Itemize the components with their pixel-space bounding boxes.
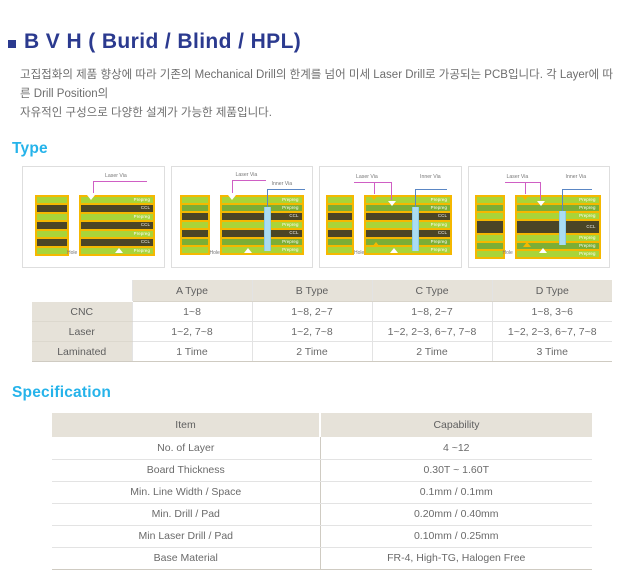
type-table-corner	[32, 280, 132, 302]
callout-hole: Hole	[503, 251, 513, 256]
layer-label-prepreg: Prepreg	[134, 249, 150, 253]
layer-label-prepreg: Prepreg	[282, 223, 298, 227]
type-cell: 1~8, 3~6	[492, 302, 612, 322]
layer-label-prepreg: Prepreg	[579, 214, 595, 218]
section-heading-type: Type	[12, 140, 630, 158]
section-heading-specification: Specification	[12, 384, 630, 402]
table-row: No. of Layer 4 ~12	[52, 437, 592, 459]
spec-item: Min. Drill / Pad	[52, 503, 320, 525]
laser-via-leader-line	[354, 182, 392, 183]
spec-capability: 0.20mm / 0.40mm	[320, 503, 592, 525]
callout-hole: Hole	[354, 251, 364, 256]
layer-label-prepreg: Prepreg	[282, 206, 298, 210]
diagram-panel-strip: Prepreg CCL Prepreg CCL Prepreg CCL Prep…	[22, 166, 610, 268]
layer-label-prepreg: Prepreg	[282, 240, 298, 244]
type-row-label-laminated: Laminated	[32, 342, 132, 362]
laser-via-notch-icon	[372, 242, 380, 247]
type-cell: 1~2, 2~3, 6~7, 7~8	[492, 322, 612, 342]
layer-label-ccl: CCL	[438, 214, 447, 218]
diagram-panel-c-type: Prepreg Prepreg CCL Prepreg CCL Prepreg …	[319, 166, 462, 268]
inner-via-leader-line	[415, 189, 447, 190]
laser-via-leader-line	[374, 182, 375, 194]
type-cell: 1~2, 7~8	[252, 322, 372, 342]
table-row: Board Thickness 0.30T ~ 1.60T	[52, 459, 592, 481]
laser-via-notch-icon	[87, 195, 95, 200]
type-cell: 1~8	[132, 302, 252, 322]
bullet-square-icon	[8, 40, 16, 48]
layer-label-prepreg: Prepreg	[431, 206, 447, 210]
layer-label-prepreg: Prepreg	[134, 232, 150, 236]
spec-capability: 0.1mm / 0.1mm	[320, 481, 592, 503]
stack-left-d	[475, 195, 505, 259]
layer-label-prepreg: Prepreg	[579, 206, 595, 210]
callout-inner-via: Inner Via	[272, 182, 293, 187]
type-cell: 1~8, 2~7	[252, 302, 372, 322]
laser-via-notch-icon	[521, 195, 529, 200]
type-col-c: C Type	[372, 280, 492, 302]
spec-col-item: Item	[52, 413, 320, 437]
table-header-row: Item Capability	[52, 413, 592, 437]
layer-label-prepreg: Prepreg	[134, 215, 150, 219]
diagram-panel-b-type: Prepreg Prepreg CCL Prepreg CCL Prepreg …	[171, 166, 314, 268]
spec-item: Board Thickness	[52, 459, 320, 481]
layer-label-ccl: CCL	[289, 231, 298, 235]
stack-right-b: Prepreg Prepreg CCL Prepreg CCL Prepreg …	[220, 195, 304, 255]
spec-item: Min Laser Drill / Pad	[52, 525, 320, 547]
laser-via-notch-icon	[115, 248, 123, 253]
table-row: Base Material FR-4, High-TG, Halogen Fre…	[52, 547, 592, 569]
type-col-b: B Type	[252, 280, 372, 302]
type-cell: 1~8, 2~7	[372, 302, 492, 322]
inner-via-leader-line	[267, 189, 305, 190]
layer-label-prepreg: Prepreg	[579, 198, 595, 202]
laser-via-notch-icon	[244, 248, 252, 253]
laser-via-leader-line	[525, 182, 526, 194]
diagram-panel-d-type: Prepreg Prepreg Prepreg CCL Prepreg Prep…	[468, 166, 611, 268]
spec-col-capability: Capability	[320, 413, 592, 437]
layer-label-ccl: CCL	[586, 225, 595, 229]
type-cell: 2 Time	[372, 342, 492, 362]
inner-via-column	[264, 207, 271, 251]
callout-inner-via: Inner Via	[420, 175, 441, 180]
spec-item: No. of Layer	[52, 437, 320, 459]
laser-via-leader-line	[232, 180, 266, 181]
type-col-a: A Type	[132, 280, 252, 302]
spec-capability: 0.30T ~ 1.60T	[320, 459, 592, 481]
stack-right-d: Prepreg Prepreg Prepreg CCL Prepreg Prep…	[515, 195, 601, 259]
layer-label-prepreg: Prepreg	[579, 244, 595, 248]
stack-right-a: Prepreg CCL Prepreg CCL Prepreg CCL Prep…	[79, 195, 155, 256]
laser-via-leader-line	[505, 182, 541, 183]
type-cell: 1~2, 2~3, 6~7, 7~8	[372, 322, 492, 342]
type-comparison-table: A Type B Type C Type D Type CNC 1~8 1~8,…	[32, 280, 612, 363]
table-row: CNC 1~8 1~8, 2~7 1~8, 2~7 1~8, 3~6	[32, 302, 612, 322]
spec-capability: FR-4, High-TG, Halogen Free	[320, 547, 592, 569]
layer-label-ccl: CCL	[289, 214, 298, 218]
callout-hole: Hole	[210, 251, 220, 256]
type-cell: 1~2, 7~8	[132, 322, 252, 342]
table-header-row: A Type B Type C Type D Type	[32, 280, 612, 302]
layer-label-prepreg: Prepreg	[431, 223, 447, 227]
table-row: Min. Line Width / Space 0.1mm / 0.1mm	[52, 481, 592, 503]
callout-laser-via: Laser Via	[236, 173, 258, 178]
callout-hole: Hole	[67, 251, 77, 256]
layer-label-ccl: CCL	[141, 206, 150, 210]
laser-via-leader-line	[93, 181, 94, 193]
layer-label-ccl: CCL	[141, 223, 150, 227]
description-line-2: 자유적인 구성으로 다양한 설계가 가능한 제품입니다.	[20, 104, 620, 123]
layer-label-ccl: CCL	[438, 231, 447, 235]
specification-table: Item Capability No. of Layer 4 ~12 Board…	[52, 413, 592, 570]
layer-label-prepreg: Prepreg	[282, 198, 298, 202]
inner-via-column	[559, 211, 566, 245]
laser-via-notch-icon	[539, 248, 547, 253]
description-line-1: 고집접화의 제품 향상에 따라 기존의 Mechanical Drill의 한계…	[20, 66, 620, 104]
spec-item: Min. Line Width / Space	[52, 481, 320, 503]
layer-label-prepreg: Prepreg	[431, 240, 447, 244]
stack-left-b	[180, 195, 210, 255]
layer-label-prepreg: Prepreg	[579, 236, 595, 240]
stack-left-c	[326, 195, 354, 255]
table-row: Laser 1~2, 7~8 1~2, 7~8 1~2, 2~3, 6~7, 7…	[32, 322, 612, 342]
type-cell: 2 Time	[252, 342, 372, 362]
inner-via-column	[412, 207, 419, 251]
diagram-panel-a-type: Prepreg CCL Prepreg CCL Prepreg CCL Prep…	[22, 166, 165, 268]
type-row-label-laser: Laser	[32, 322, 132, 342]
page-header: B V H ( Burid / Blind / HPL)	[0, 0, 630, 54]
laser-via-leader-line	[93, 181, 147, 182]
laser-via-leader-line	[232, 180, 233, 193]
layer-label-prepreg: Prepreg	[282, 248, 298, 252]
layer-label-ccl: CCL	[141, 240, 150, 244]
laser-via-notch-icon	[537, 201, 545, 206]
inner-via-leader-line	[562, 189, 592, 190]
type-row-label-cnc: CNC	[32, 302, 132, 322]
type-col-d: D Type	[492, 280, 612, 302]
laser-via-notch-icon	[523, 242, 531, 247]
table-row: Min. Drill / Pad 0.20mm / 0.40mm	[52, 503, 592, 525]
callout-laser-via: Laser Via	[105, 174, 127, 179]
table-row: Laminated 1 Time 2 Time 2 Time 3 Time	[32, 342, 612, 362]
laser-via-notch-icon	[370, 195, 378, 200]
type-cell: 3 Time	[492, 342, 612, 362]
layer-label-prepreg: Prepreg	[579, 252, 595, 256]
layer-label-prepreg: Prepreg	[134, 198, 150, 202]
spec-capability: 4 ~12	[320, 437, 592, 459]
spec-capability: 0.10mm / 0.25mm	[320, 525, 592, 547]
layer-label-prepreg: Prepreg	[431, 248, 447, 252]
laser-via-notch-icon	[228, 195, 236, 200]
laser-via-notch-icon	[388, 201, 396, 206]
layer-label-prepreg: Prepreg	[431, 198, 447, 202]
callout-inner-via: Inner Via	[566, 175, 587, 180]
callout-laser-via: Laser Via	[507, 175, 529, 180]
laser-via-notch-icon	[390, 248, 398, 253]
spec-item: Base Material	[52, 547, 320, 569]
callout-laser-via: Laser Via	[356, 175, 378, 180]
page-description: 고집접화의 제품 향상에 따라 기존의 Mechanical Drill의 한계…	[20, 66, 620, 123]
type-cell: 1 Time	[132, 342, 252, 362]
table-row: Min Laser Drill / Pad 0.10mm / 0.25mm	[52, 525, 592, 547]
stack-left-a	[35, 195, 69, 256]
page-title: B V H ( Burid / Blind / HPL)	[24, 30, 301, 54]
